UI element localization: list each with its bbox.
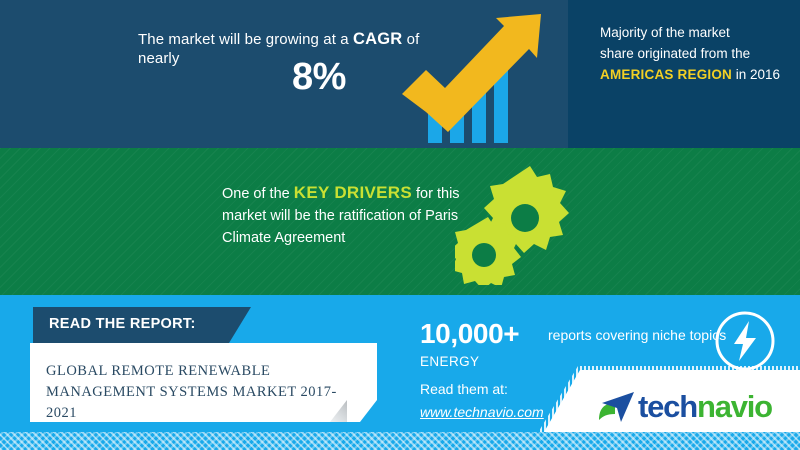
cagr-statement: The market will be growing at a CAGR of … (138, 30, 438, 68)
infographic-root: The market will be growing at a CAGR of … (0, 0, 800, 450)
key-drivers-highlight: KEY DRIVERS (294, 183, 412, 202)
logo-word-navio: navio (697, 389, 772, 424)
reports-caption: reports covering niche topics (548, 327, 726, 343)
key-drivers-part1: One of the (222, 186, 294, 202)
growth-bar-chart-arrow-icon (398, 8, 563, 143)
americas-line2: share originated from the (600, 46, 750, 61)
gears-icon (455, 160, 585, 285)
cagr-statement-part1: The market will be growing at a (138, 31, 353, 48)
sector-label: ENERGY (420, 354, 479, 369)
bottom-stripe-strip (0, 432, 800, 450)
americas-year: in 2016 (732, 67, 780, 82)
lightning-bolt-icon (712, 308, 778, 374)
logo-word-tech: tech (638, 389, 697, 424)
key-drivers-statement: One of the KEY DRIVERS for this market w… (222, 182, 492, 249)
americas-statement: Majority of the market share originated … (600, 22, 796, 85)
cagr-value: 8% (292, 56, 346, 99)
technavio-wordmark: technavio (638, 390, 772, 424)
website-link[interactable]: www.technavio.com (420, 404, 544, 420)
americas-line1: Majority of the market (600, 25, 730, 40)
cagr-acronym: CAGR (353, 30, 402, 48)
technavio-logo[interactable]: technavio (596, 386, 792, 428)
technavio-arrow-icon (596, 390, 636, 424)
read-the-report-ribbon: READ THE REPORT: (33, 307, 251, 343)
read-the-report-label: READ THE REPORT: (49, 316, 196, 332)
read-them-at-label: Read them at: (420, 381, 508, 397)
americas-region-highlight: AMERICAS REGION (600, 67, 732, 82)
reports-count: 10,000+ (420, 318, 519, 350)
report-title: GLOBAL REMOTE RENEWABLE MANAGEMENT SYSTE… (46, 361, 366, 424)
